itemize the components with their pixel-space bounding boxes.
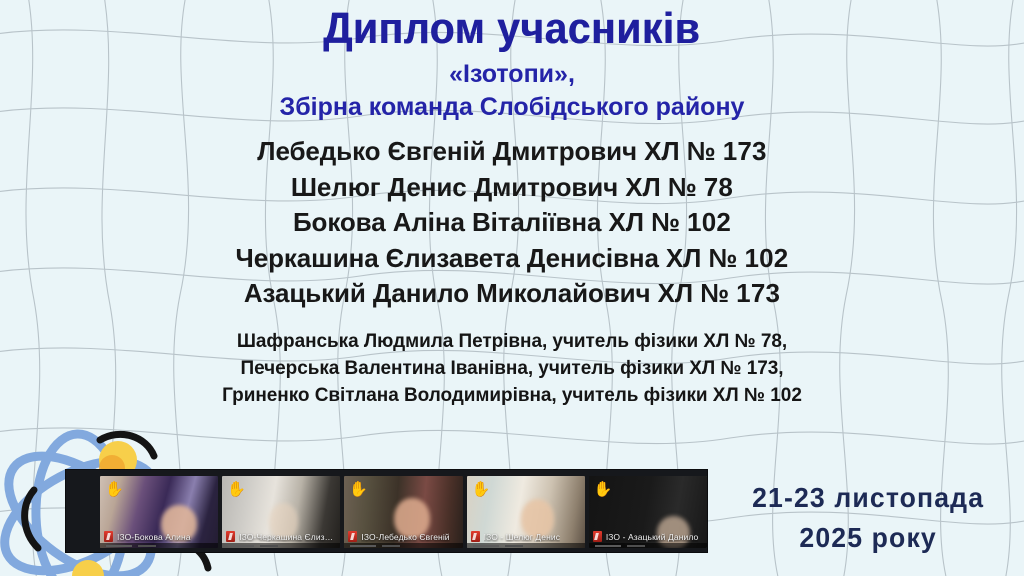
raised-hand-icon: ✋ [594,482,613,497]
video-tile[interactable]: ✋ ІЗО-Бокова Алина [100,476,218,548]
app-icon [348,531,357,542]
app-icon [226,531,235,542]
raised-hand-icon: ✋ [227,482,246,497]
app-icon [104,531,113,542]
participant-row: Лебедько Євгеній Дмитрович ХЛ № 173 [236,134,789,169]
video-tile-label: ІЗО - Шелюг Денис [484,532,560,542]
participant-row: Шелюг Денис Дмитрович ХЛ № 78 [236,170,789,205]
video-tile-label: ІЗО-Бокова Алина [117,532,191,542]
participant-school-number: 173 [723,136,767,166]
video-tile-label: ІЗО-Черкашина Єлиз… [239,532,333,542]
participant-school-number: 102 [687,207,731,237]
participant-name: Черкашина Єлизавета Денисівна ХЛ № [236,243,745,273]
page-title: Диплом учасників [324,4,701,53]
teacher-row: Печерська Валентина Іванівна, учитель фі… [222,356,802,383]
team-name: «Ізотопи», [449,58,575,90]
video-tile-footer [222,543,340,548]
video-tile-label: ІЗО - Азацький Данило [606,532,699,542]
participant-row: Бокова Аліна Віталіївна ХЛ № 102 [236,205,789,240]
participant-name: Бокова Аліна Віталіївна ХЛ № [293,207,687,237]
event-date: 21-23 листопада 2025 року [752,478,984,558]
participant-name: Азацький Данило Миколайович ХЛ № [244,278,736,308]
video-tile[interactable]: ✋ ІЗО-Черкашина Єлиз… [222,476,340,548]
video-tile[interactable]: ✋ ІЗО - Азацький Данило [589,476,707,548]
event-date-year: 2025 року [752,518,984,558]
video-tile-namebar: ІЗО - Шелюг Денис [467,530,585,543]
participant-row: Азацький Данило Миколайович ХЛ № 173 [236,276,789,311]
app-icon [593,531,602,542]
video-tile-footer [589,543,707,548]
participant-school-number: 173 [736,278,780,308]
raised-hand-icon: ✋ [349,482,368,497]
video-tile-label: ІЗО-Лебедько Євгеній [361,532,449,542]
video-tile-footer [344,543,462,548]
raised-hand-icon: ✋ [472,482,491,497]
event-date-range: 21-23 листопада [752,478,984,518]
participant-school-number: 78 [704,172,733,202]
video-tile[interactable]: ✋ ІЗО - Шелюг Денис [467,476,585,548]
video-tile-footer [467,543,585,548]
app-icon [471,531,480,542]
participant-name: Лебедько Євгеній Дмитрович ХЛ № [257,136,722,166]
teacher-list: Шафранська Людмила Петрівна, учитель фіз… [222,329,802,410]
video-conference-strip: ✋ ІЗО-Бокова Алина ✋ ІЗО-Черкашина Єлиз…… [66,470,707,552]
video-tile[interactable]: ✋ ІЗО-Лебедько Євгеній [344,476,462,548]
video-tile-namebar: ІЗО-Черкашина Єлиз… [222,530,340,543]
video-tile-namebar: ІЗО-Лебедько Євгеній [344,530,462,543]
teacher-row: Гриненко Світлана Володимирівна, учитель… [222,383,802,410]
raised-hand-icon: ✋ [105,482,124,497]
team-region: Збірна команда Слобідського району [280,91,745,123]
participant-row: Черкашина Єлизавета Денисівна ХЛ № 102 [236,241,789,276]
video-tile-namebar: ІЗО - Азацький Данило [589,530,707,543]
participant-list: Лебедько Євгеній Дмитрович ХЛ № 173 Шелю… [236,134,789,311]
participant-name: Шелюг Денис Дмитрович ХЛ № [291,172,704,202]
teacher-row: Шафранська Людмила Петрівна, учитель фіз… [222,329,802,356]
video-tile-footer [100,543,218,548]
participant-school-number: 102 [744,243,788,273]
video-tile-namebar: ІЗО-Бокова Алина [100,530,218,543]
